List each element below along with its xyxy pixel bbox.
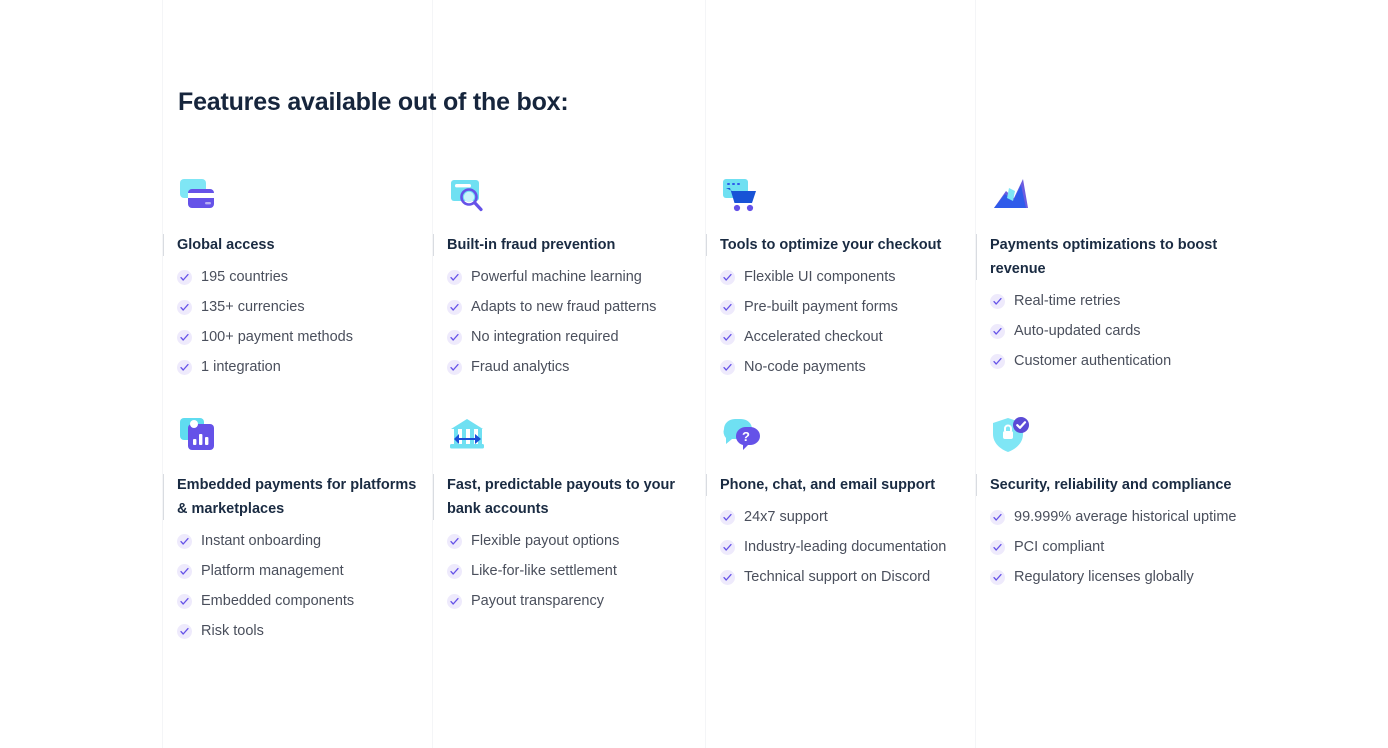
check-icon [720,330,735,345]
feature-title: Phone, chat, and email support [706,473,968,497]
svg-text:?: ? [742,429,750,444]
feature-card-support: ? Phone, chat, and email support 24x7 su… [706,415,968,597]
list-item-label: 195 countries [201,267,288,288]
check-icon [177,534,192,549]
check-icon [990,510,1005,525]
check-icon [990,324,1005,339]
check-icon [177,594,192,609]
list-item: Technical support on Discord [720,567,968,588]
check-icon [720,300,735,315]
features-section: Features available out of the box: Globa… [0,0,1388,748]
features-row-2: Embedded payments for platforms & market… [0,415,1388,655]
check-icon [177,330,192,345]
list-item-label: PCI compliant [1014,537,1104,558]
list-item: Platform management [177,561,425,582]
list-item-label: Real-time retries [1014,291,1120,312]
list-item-label: Instant onboarding [201,531,321,552]
feature-title: Security, reliability and compliance [976,473,1244,497]
list-item-label: Customer authentication [1014,351,1171,372]
credit-card-icon [177,175,221,219]
check-icon [447,360,462,375]
check-icon [720,270,735,285]
list-item-label: Like-for-like settlement [471,561,617,582]
check-icon [447,534,462,549]
list-item: Payout transparency [447,591,695,612]
list-item: Accelerated checkout [720,327,968,348]
feature-card-fraud-prevention: Built-in fraud prevention Powerful machi… [433,175,695,387]
features-grid: Global access 195 countries 135+ currenc… [0,175,1388,655]
list-item-label: Flexible payout options [471,531,619,552]
list-item-label: Accelerated checkout [744,327,883,348]
list-item-label: Adapts to new fraud patterns [471,297,656,318]
feature-bullets: 24x7 support Industry-leading documentat… [706,507,968,588]
list-item-label: 24x7 support [744,507,828,528]
check-icon [177,624,192,639]
feature-card-payouts: Fast, predictable payouts to your bank a… [433,415,695,621]
list-item: Powerful machine learning [447,267,695,288]
list-item: 100+ payment methods [177,327,425,348]
chat-question-icon: ? [720,415,764,459]
check-icon [990,294,1005,309]
feature-card-global-access: Global access 195 countries 135+ currenc… [163,175,425,387]
list-item-label: No-code payments [744,357,866,378]
list-item-label: Fraud analytics [471,357,569,378]
list-item-label: 1 integration [201,357,281,378]
list-item: Industry-leading documentation [720,537,968,558]
check-icon [177,360,192,375]
shopping-cart-icon [720,175,764,219]
check-icon [177,300,192,315]
feature-bullets: Instant onboarding Platform management E… [163,531,425,642]
check-icon [447,564,462,579]
list-item: Auto-updated cards [990,321,1244,342]
feature-card-checkout-tools: Tools to optimize your checkout Flexible… [706,175,968,387]
feature-bullets: 99.999% average historical uptime PCI co… [976,507,1244,588]
list-item: PCI compliant [990,537,1244,558]
feature-card-security-compliance: Security, reliability and compliance 99.… [976,415,1244,597]
feature-bullets: Real-time retries Auto-updated cards Cus… [976,291,1244,372]
feature-title: Fast, predictable payouts to your bank a… [433,473,695,521]
list-item: Customer authentication [990,351,1244,372]
list-item-label: 99.999% average historical uptime [1014,507,1236,528]
check-icon [177,270,192,285]
feature-bullets: Powerful machine learning Adapts to new … [433,267,695,378]
list-item-label: Risk tools [201,621,264,642]
list-item: 195 countries [177,267,425,288]
list-item-label: Powerful machine learning [471,267,642,288]
feature-bullets: Flexible payout options Like-for-like se… [433,531,695,612]
list-item: 99.999% average historical uptime [990,507,1244,528]
list-item: Risk tools [177,621,425,642]
list-item-label: No integration required [471,327,619,348]
list-item: Instant onboarding [177,531,425,552]
feature-bullets: 195 countries 135+ currencies 100+ payme… [163,267,425,378]
list-item: Adapts to new fraud patterns [447,297,695,318]
page-title: Features available out of the box: [178,88,569,117]
check-icon [447,330,462,345]
list-item-label: Embedded components [201,591,354,612]
check-icon [990,570,1005,585]
list-item: Flexible payout options [447,531,695,552]
check-icon [177,564,192,579]
check-icon [990,354,1005,369]
feature-title: Global access [163,233,425,257]
bank-transfer-icon [447,415,491,459]
list-item: No-code payments [720,357,968,378]
feature-title: Payments optimizations to boost revenue [976,233,1244,281]
list-item-label: 100+ payment methods [201,327,353,348]
list-item-label: Flexible UI components [744,267,896,288]
list-item-label: Pre-built payment forms [744,297,898,318]
check-icon [990,540,1005,555]
list-item: Fraud analytics [447,357,695,378]
list-item: No integration required [447,327,695,348]
growth-chart-icon [990,175,1034,219]
list-item: 135+ currencies [177,297,425,318]
list-item-label: 135+ currencies [201,297,305,318]
check-icon [447,300,462,315]
feature-title: Built-in fraud prevention [433,233,695,257]
list-item-label: Technical support on Discord [744,567,930,588]
list-item: Embedded components [177,591,425,612]
list-item: Like-for-like settlement [447,561,695,582]
check-icon [720,570,735,585]
check-icon [447,270,462,285]
list-item: Regulatory licenses globally [990,567,1244,588]
shield-lock-check-icon [990,415,1034,459]
feature-card-embedded-payments: Embedded payments for platforms & market… [163,415,425,651]
list-item-label: Industry-leading documentation [744,537,946,558]
check-icon [720,360,735,375]
feature-title: Tools to optimize your checkout [706,233,968,257]
check-icon [720,510,735,525]
feature-title: Embedded payments for platforms & market… [163,473,425,521]
list-item: Real-time retries [990,291,1244,312]
card-magnifier-icon [447,175,491,219]
bar-chart-card-icon [177,415,221,459]
check-icon [447,594,462,609]
feature-bullets: Flexible UI components Pre-built payment… [706,267,968,378]
list-item-label: Auto-updated cards [1014,321,1141,342]
list-item: 24x7 support [720,507,968,528]
list-item-label: Platform management [201,561,344,582]
features-row-1: Global access 195 countries 135+ currenc… [0,175,1388,415]
feature-card-payments-optimizations: Payments optimizations to boost revenue … [976,175,1244,381]
list-item: Pre-built payment forms [720,297,968,318]
list-item: Flexible UI components [720,267,968,288]
list-item-label: Regulatory licenses globally [1014,567,1194,588]
check-icon [720,540,735,555]
list-item-label: Payout transparency [471,591,604,612]
list-item: 1 integration [177,357,425,378]
